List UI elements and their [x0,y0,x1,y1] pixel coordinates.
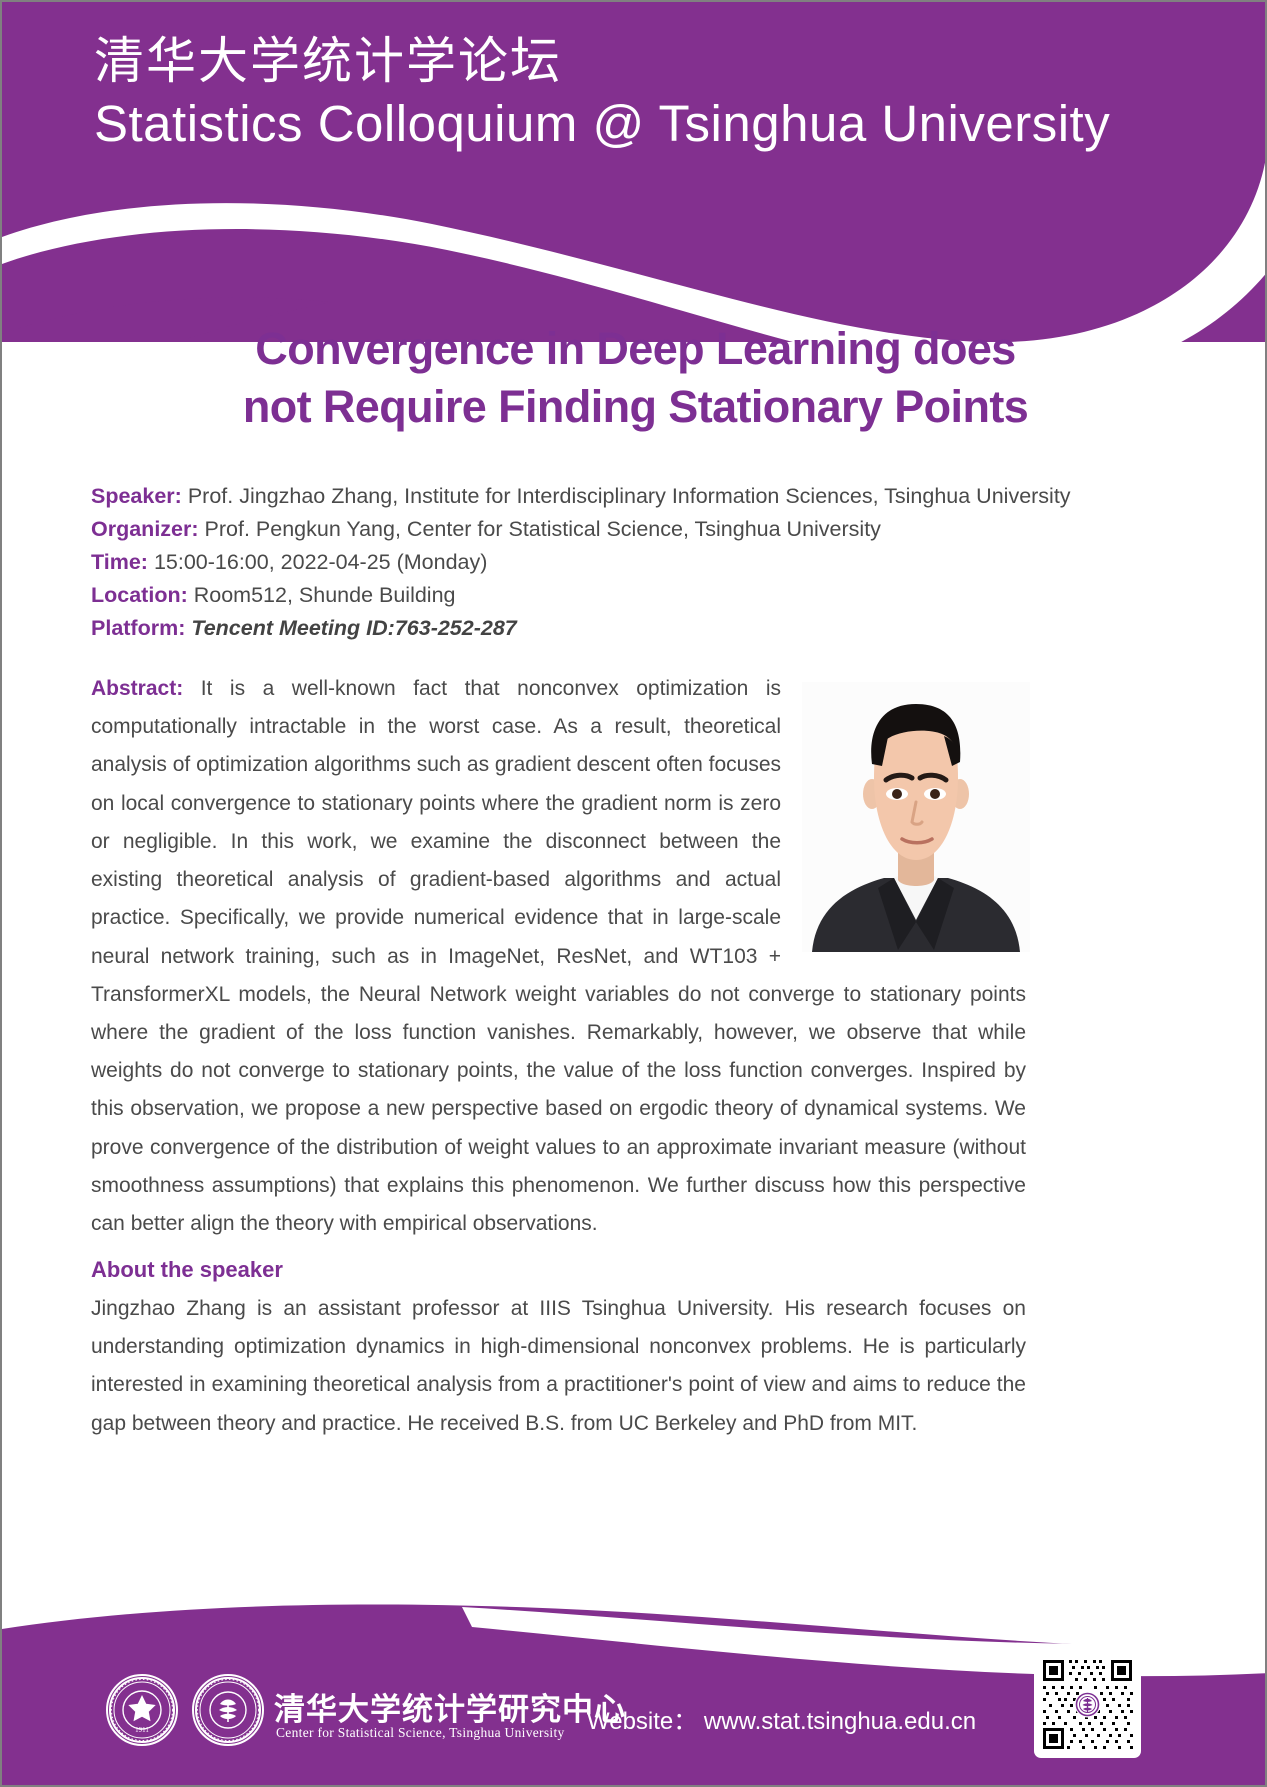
speaker-photo-illustration [802,682,1030,952]
talk-title: Convergence in Deep Learning does not Re… [2,320,1267,435]
website-url[interactable]: Website： www.stat.tsinghua.edu.cn [587,1701,976,1736]
time-row: Time: 15:00-16:00, 2022-04-25 (Monday) [91,546,1091,579]
tsinghua-university-seal-icon: 1911 [106,1674,178,1746]
header-banner: 清华大学统计学论坛 Statistics Colloquium @ Tsingh… [2,2,1267,342]
speaker-portrait [802,682,1030,952]
header-title-english: Statistics Colloquium @ Tsinghua Univers… [94,98,1110,149]
organizer-row: Organizer: Prof. Pengkun Yang, Center fo… [91,513,1091,546]
event-details: Speaker: Prof. Jingzhao Zhang, Institute… [91,480,1091,644]
abstract-label: Abstract: [91,677,183,700]
about-speaker-heading: About the speaker [91,1257,283,1283]
speaker-row: Speaker: Prof. Jingzhao Zhang, Institute… [91,480,1091,513]
organizer-label: Organizer: [91,517,199,541]
location-row: Location: Room512, Shunde Building [91,579,1091,612]
platform-label: Platform: [91,616,185,640]
talk-title-line-2: not Require Finding Stationary Points [92,378,1179,436]
about-speaker-text: Jingzhao Zhang is an assistant professor… [91,1290,1026,1443]
svg-text:1911: 1911 [135,1726,149,1734]
time-label: Time: [91,550,148,574]
qr-code-icon[interactable] [1034,1651,1141,1758]
center-for-statistical-science-seal-icon [192,1674,264,1746]
platform-value: Tencent Meeting ID:763-252-287 [191,616,516,640]
poster: 清华大学统计学论坛 Statistics Colloquium @ Tsingh… [0,0,1267,1787]
header-title-group: 清华大学统计学论坛 Statistics Colloquium @ Tsingh… [94,36,1110,149]
organizer-value: Prof. Pengkun Yang, Center for Statistic… [205,517,881,541]
speaker-value: Prof. Jingzhao Zhang, Institute for Inte… [188,484,1071,508]
time-value: 15:00-16:00, 2022-04-25 (Monday) [154,550,487,574]
organization-name-english: Center for Statistical Science, Tsinghua… [276,1725,565,1741]
header-title-chinese: 清华大学统计学论坛 [94,36,1110,86]
platform-row: Platform: Tencent Meeting ID:763-252-287 [91,612,1091,645]
talk-title-line-1: Convergence in Deep Learning does [92,320,1179,378]
speaker-label: Speaker: [91,484,182,508]
location-value: Room512, Shunde Building [194,583,456,607]
organization-name-chinese: 清华大学统计学研究中心 [274,1684,626,1729]
location-label: Location: [91,583,188,607]
